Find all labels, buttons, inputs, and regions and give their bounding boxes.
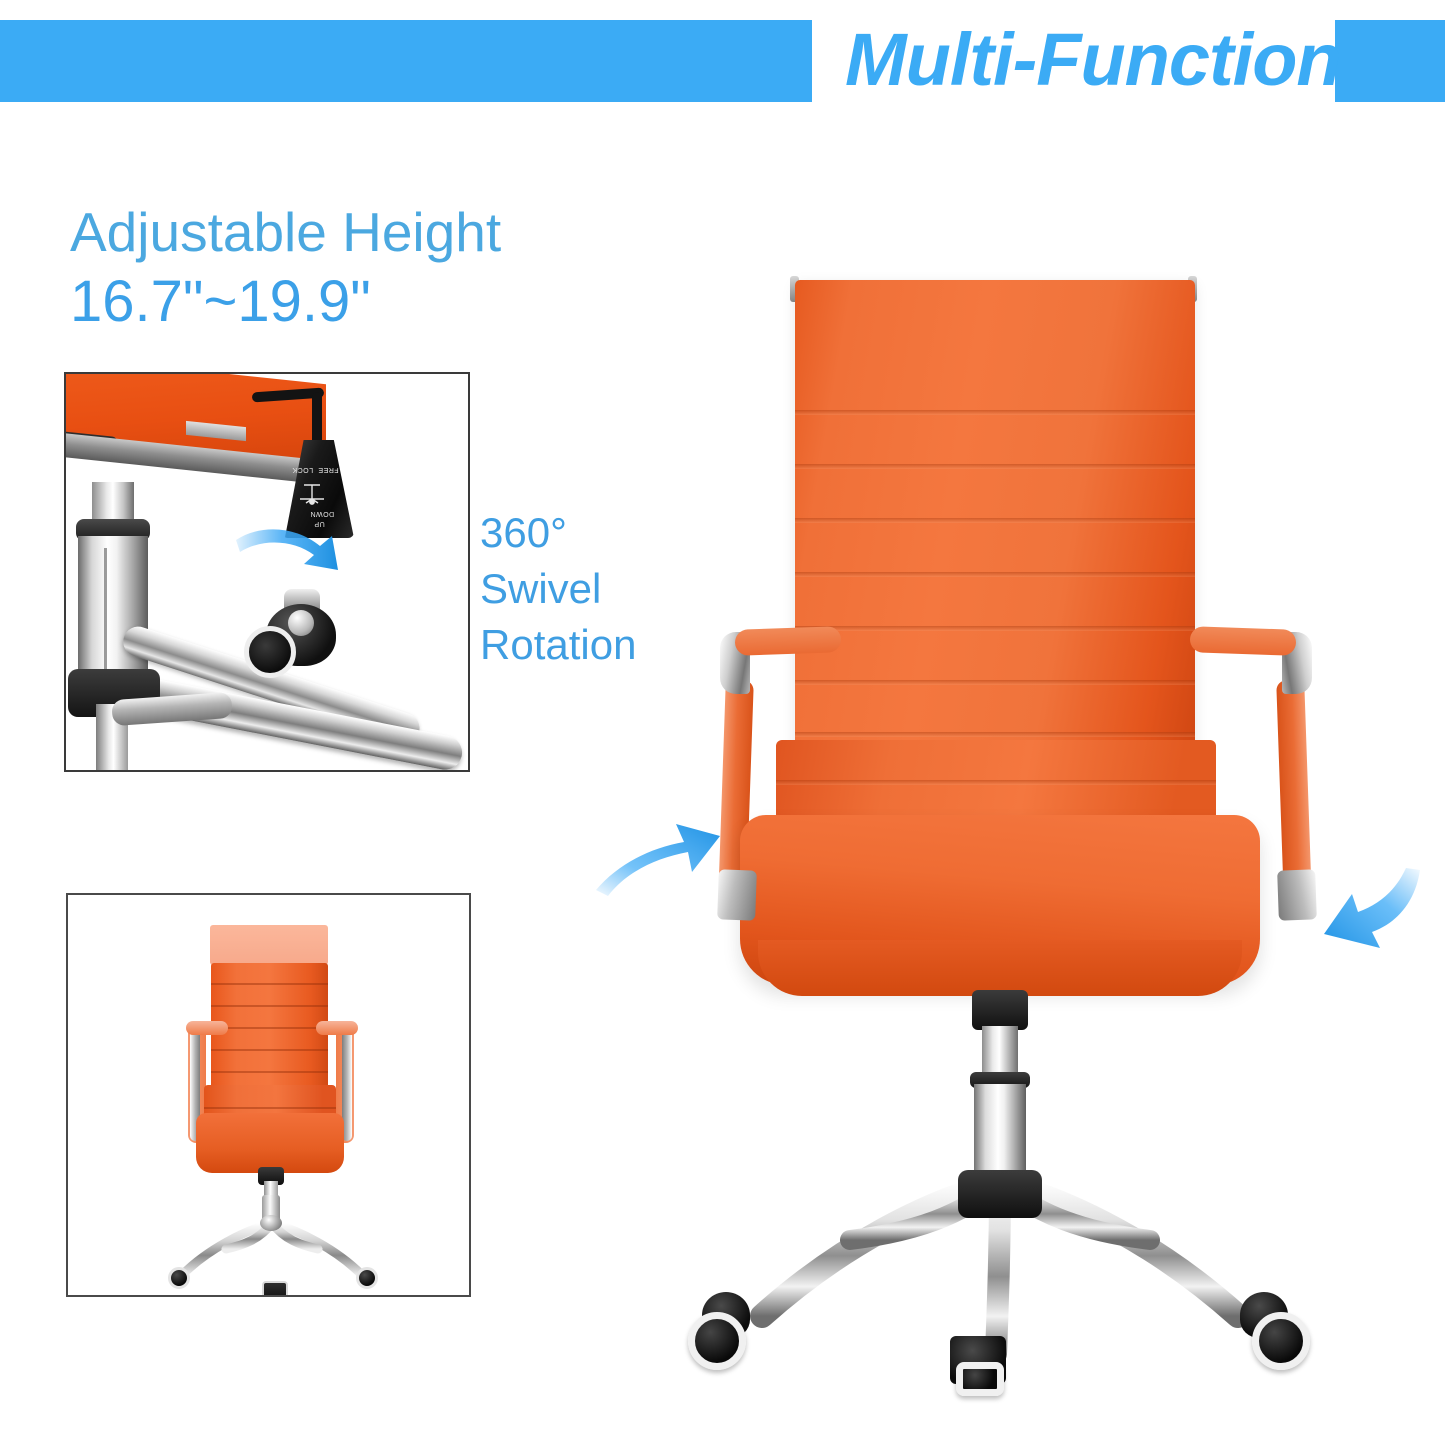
caster-wheel: [244, 626, 296, 678]
gas-lift-detail-photo: LOCK FREE DOWN UP: [64, 372, 470, 772]
caster-hub-icon: [288, 610, 314, 636]
fc-arm-pad-left: [186, 1021, 228, 1035]
fc-caster-front: [262, 1281, 288, 1297]
armrest-pad-left: [735, 626, 842, 656]
lever-label-down: DOWN: [310, 510, 334, 517]
lever-label-free: FREE: [318, 466, 339, 473]
product-feature-infographic: Multi-Function Adjustable Height 16.7"~1…: [0, 0, 1445, 1445]
fc-base-hub: [260, 1215, 282, 1231]
header-bar-left: [0, 20, 812, 102]
fc-caster: [168, 1267, 190, 1289]
caster-wheel: [1252, 1312, 1310, 1370]
lift-photo-stage: LOCK FREE DOWN UP: [66, 374, 468, 770]
adjustable-height-range: 16.7"~19.9": [70, 268, 371, 335]
adjustable-height-label: Adjustable Height: [70, 200, 501, 264]
lever-label-lock: LOCK: [292, 466, 313, 473]
page-title: Multi-Function: [845, 12, 1335, 108]
swivel-arrow-left-icon: [592, 806, 732, 906]
gas-cylinder-top-collar: [972, 990, 1028, 1030]
lift-rotation-arrow-icon: [234, 522, 364, 582]
caster-wheel-front: [956, 1362, 1004, 1396]
lever-rod-vertical: [312, 392, 322, 446]
lever-pictogram-icon: [294, 478, 330, 508]
header-bar-right: [1335, 20, 1445, 102]
swivel-arrow-right-icon: [1288, 862, 1428, 972]
fc-caster: [356, 1267, 378, 1289]
fc-seat-cushion: [196, 1113, 344, 1173]
front-photo-stage: [68, 895, 469, 1295]
chair-backrest: [795, 280, 1195, 770]
gas-cylinder-lower: [78, 536, 148, 684]
gas-cylinder-rod: [982, 1026, 1018, 1078]
main-chair-image: [640, 250, 1420, 1380]
caster-wheel: [688, 1312, 746, 1370]
fc-headrest: [210, 925, 328, 965]
base-center-hub: [958, 1170, 1042, 1218]
front-view-photo: [66, 893, 471, 1297]
fc-arm-pad-right: [316, 1021, 358, 1035]
chair-seat-front-edge: [758, 940, 1242, 996]
armrest-pad-right: [1190, 626, 1297, 656]
